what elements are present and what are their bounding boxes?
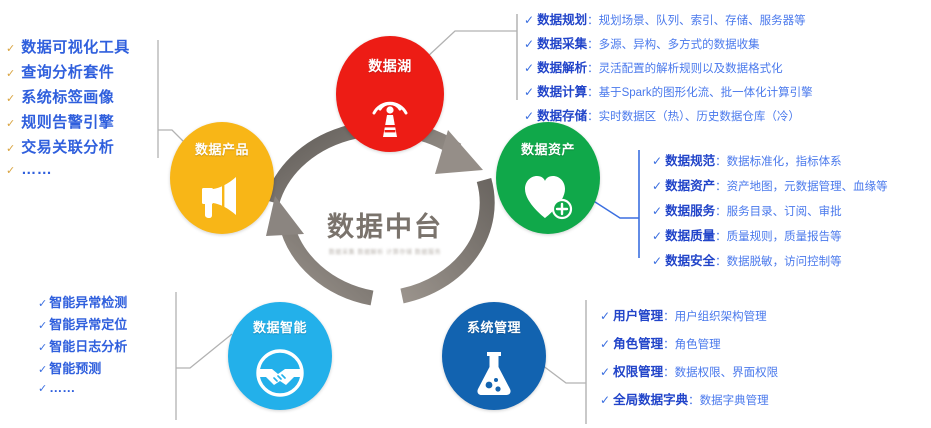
check-icon: ✓ [652,180,662,192]
check-icon: ✓ [6,166,15,177]
list-item-heading: 数据规划 [537,9,587,28]
list-item: ✓智能异常定位 [38,314,127,333]
list-item-heading: 智能异常定位 [49,314,127,333]
list-item-heading: 查询分析套件 [21,61,114,82]
list-item-body: ：数据字典管理 [688,392,769,408]
center-label: 数据中台 数据采集 数据解析 计算存储 数据服务 [300,205,470,256]
list-item-heading: 智能预测 [49,358,101,377]
check-icon: ✓ [6,94,15,105]
list-item-heading: …… [21,161,52,178]
list-item: ✓系统标签画像 [6,86,130,107]
check-icon: ✓ [6,44,15,55]
panel-data-asset: ✓数据规范：数据标准化，指标体系✓数据资产：资产地图，元数据管理、血缘等✓数据服… [652,150,888,275]
list-item: ✓查询分析套件 [6,61,130,82]
list-item-body: ：数据脱敏，访问控制等 [715,253,842,269]
check-icon: ✓ [6,69,15,80]
list-item-body: ：基于Spark的图形化流、批一体化计算引擎 [587,84,813,100]
list-item-heading: …… [49,380,75,395]
check-icon: ✓ [600,366,610,378]
list-item: ✓全局数据字典：数据字典管理 [600,389,778,408]
list-item: ✓智能预测 [38,358,127,377]
heart-plus-icon [521,158,575,234]
panel-data-intelligence: ✓智能异常检测✓智能异常定位✓智能日志分析✓智能预测✓…… [38,292,127,398]
check-icon: ✓ [524,38,534,50]
list-item: ✓交易关联分析 [6,136,130,157]
check-icon: ✓ [600,338,610,350]
list-item-heading: 智能异常检测 [49,292,127,311]
node-data-lake-label: 数据湖 [368,56,412,76]
node-system-management[interactable]: 系统管理 [442,302,546,410]
list-item-body: ：资产地图，元数据管理、血缘等 [715,178,888,194]
list-item-heading: 系统标签画像 [21,86,114,107]
connector-intel-branch [176,334,232,368]
panel-data-product: ✓数据可视化工具✓查询分析套件✓系统标签画像✓规则告警引擎✓交易关联分析✓…… [6,36,130,182]
check-icon: ✓ [38,384,47,395]
list-item-body: ：用户组织架构管理 [663,308,767,324]
list-item: ✓数据计算：基于Spark的图形化流、批一体化计算引擎 [524,81,813,100]
list-item: ✓数据规划：规划场景、队列、索引、存储、服务器等 [524,9,813,28]
list-item: ✓数据存储：实时数据区（热）、历史数据仓库（冷） [524,105,813,124]
list-item-heading: 智能日志分析 [49,336,127,355]
list-item: ✓数据服务：服务目录、订阅、审批 [652,200,888,219]
list-item-heading: 交易关联分析 [21,136,114,157]
list-item-body: ：规划场景、队列、索引、存储、服务器等 [587,12,806,28]
list-item: ✓数据规范：数据标准化，指标体系 [652,150,888,169]
check-icon: ✓ [652,255,662,267]
list-item-body: ：角色管理 [663,336,721,352]
list-item-heading: 全局数据字典 [613,389,688,408]
check-icon: ✓ [6,144,15,155]
list-item-heading: 规则告警引擎 [21,111,114,132]
check-icon: ✓ [524,62,534,74]
check-icon: ✓ [652,230,662,242]
list-item: ✓数据安全：数据脱敏，访问控制等 [652,250,888,269]
ring-arrowhead-lower [266,196,304,236]
check-icon: ✓ [524,86,534,98]
connector-lake-branch [426,31,517,58]
list-item-heading: 数据规范 [665,150,715,169]
node-data-asset-label: 数据资产 [521,139,575,158]
list-item-heading: 数据解析 [537,57,587,76]
check-icon: ✓ [38,299,47,310]
list-item-heading: 数据安全 [665,250,715,269]
node-data-asset[interactable]: 数据资产 [496,122,600,234]
list-item-heading: 数据服务 [665,200,715,219]
megaphone-icon [196,158,248,234]
node-data-product[interactable]: 数据产品 [170,122,274,234]
list-item: ✓数据采集：多源、异构、多方式的数据收集 [524,33,813,52]
check-icon: ✓ [600,310,610,322]
panel-data-lake: ✓数据规划：规划场景、队列、索引、存储、服务器等✓数据采集：多源、异构、多方式的… [524,9,813,129]
list-item-heading: 角色管理 [613,333,663,352]
list-item: ✓智能异常检测 [38,292,127,311]
list-item-body: ：多源、异构、多方式的数据收集 [587,36,760,52]
check-icon: ✓ [6,119,15,130]
flask-icon [472,336,516,410]
list-item-heading: 数据可视化工具 [21,36,130,57]
list-item: ✓智能日志分析 [38,336,127,355]
list-item-heading: 权限管理 [613,361,663,380]
check-icon: ✓ [652,205,662,217]
node-data-lake[interactable]: 数据湖 [336,36,444,152]
check-icon: ✓ [524,110,534,122]
list-item-heading: 数据存储 [537,105,587,124]
diagram-canvas: 数据中台 数据采集 数据解析 计算存储 数据服务 数据湖 数据资产 [0,0,931,428]
check-icon: ✓ [600,394,610,406]
list-item-body: ：灵活配置的解析规则以及数据格式化 [587,60,783,76]
list-item: ✓…… [38,380,127,395]
list-item: ✓角色管理：角色管理 [600,333,778,352]
list-item: ✓用户管理：用户组织架构管理 [600,305,778,324]
list-item-heading: 用户管理 [613,305,663,324]
list-item-body: ：服务目录、订阅、审批 [715,203,842,219]
list-item-heading: 数据采集 [537,33,587,52]
list-item-body: ：质量规则，质量报告等 [715,228,842,244]
center-title: 数据中台 [300,205,470,244]
list-item: ✓数据质量：质量规则，质量报告等 [652,225,888,244]
list-item-body: ：实时数据区（热）、历史数据仓库（冷） [587,108,800,124]
list-item-heading: 数据质量 [665,225,715,244]
handshake-icon [254,336,306,410]
list-item: ✓规则告警引擎 [6,111,130,132]
list-item-body: ：数据标准化，指标体系 [715,153,842,169]
list-item-heading: 数据资产 [665,175,715,194]
node-system-management-label: 系统管理 [467,317,521,336]
check-icon: ✓ [38,321,47,332]
connector-asset-branch [592,200,639,218]
check-icon: ✓ [38,365,47,376]
panel-system-management: ✓用户管理：用户组织架构管理✓角色管理：角色管理✓权限管理：数据权限、界面权限✓… [600,305,778,417]
broadcast-tower-icon [367,76,413,152]
check-icon: ✓ [652,155,662,167]
center-subtitle: 数据采集 数据解析 计算存储 数据服务 [300,247,470,256]
check-icon: ✓ [38,343,47,354]
list-item: ✓权限管理：数据权限、界面权限 [600,361,778,380]
list-item: ✓数据资产：资产地图，元数据管理、血缘等 [652,175,888,194]
list-item: ✓数据可视化工具 [6,36,130,57]
check-icon: ✓ [524,14,534,26]
node-data-intelligence-label: 数据智能 [253,317,307,336]
list-item: ✓数据解析：灵活配置的解析规则以及数据格式化 [524,57,813,76]
list-item-body: ：数据权限、界面权限 [663,364,778,380]
list-item-heading: 数据计算 [537,81,587,100]
list-item: ✓…… [6,161,130,178]
node-data-product-label: 数据产品 [195,139,249,158]
node-data-intelligence[interactable]: 数据智能 [228,302,332,410]
